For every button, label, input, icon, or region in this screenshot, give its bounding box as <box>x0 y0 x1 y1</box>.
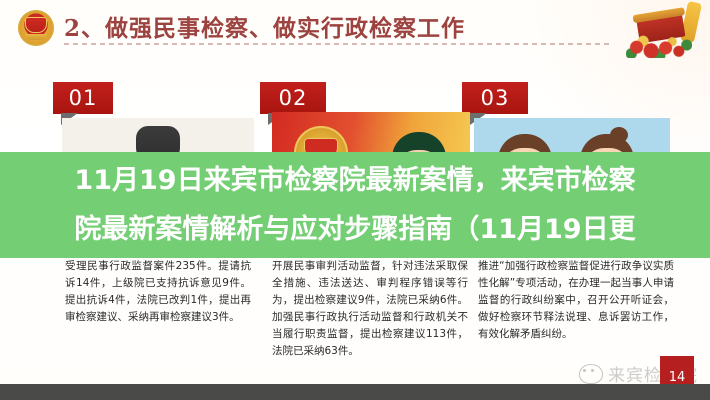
overlay-title-line-1: 11月19日来宾市检察院最新案情，来宾市检察 <box>0 156 710 205</box>
overlay-title-line-2: 院最新案情解析与应对步骤指南（11月19日更 <box>0 205 710 254</box>
section-number-label: 03 <box>481 86 510 110</box>
procuratorate-emblem-icon <box>18 10 54 46</box>
section-body-02: 开展民事审判活动监督，针对违法采取保全措施、违法送达、审判程序错误等行为，提出检… <box>272 258 468 360</box>
section-number-tag-01: 01 <box>53 82 113 114</box>
overlay-title-band: 11月19日来宾市检察院最新案情，来宾市检察 院最新案情解析与应对步骤指南（11… <box>0 152 710 258</box>
bottom-bar <box>0 384 710 400</box>
slide-screenshot: 2、做强民事检察、做实行政检察工作 01 02 03 公正 <box>0 0 710 400</box>
flowers-shape <box>626 34 692 58</box>
slide-header: 2、做强民事检察、做实行政检察工作 <box>0 0 710 62</box>
section-number-label: 02 <box>279 86 308 110</box>
wechat-icon <box>579 364 603 384</box>
page-title: 2、做强民事检察、做实行政检察工作 <box>64 9 624 43</box>
title-divider <box>64 43 610 45</box>
section-number-tag-03: 03 <box>462 82 528 114</box>
section-body-01: 受理民事行政监督案件235件。提请抗诉14件，上级院已支持抗诉意见9件。提出抗诉… <box>65 258 251 326</box>
tiananmen-flowers-decoration-icon <box>614 0 706 64</box>
section-number-tag-02: 02 <box>260 82 326 114</box>
section-number-label: 01 <box>69 86 98 110</box>
section-body-03: 推进“加强行政检察监督促进行政争议实质性化解”专项活动，在办理一起当事人申请监督… <box>478 258 674 343</box>
